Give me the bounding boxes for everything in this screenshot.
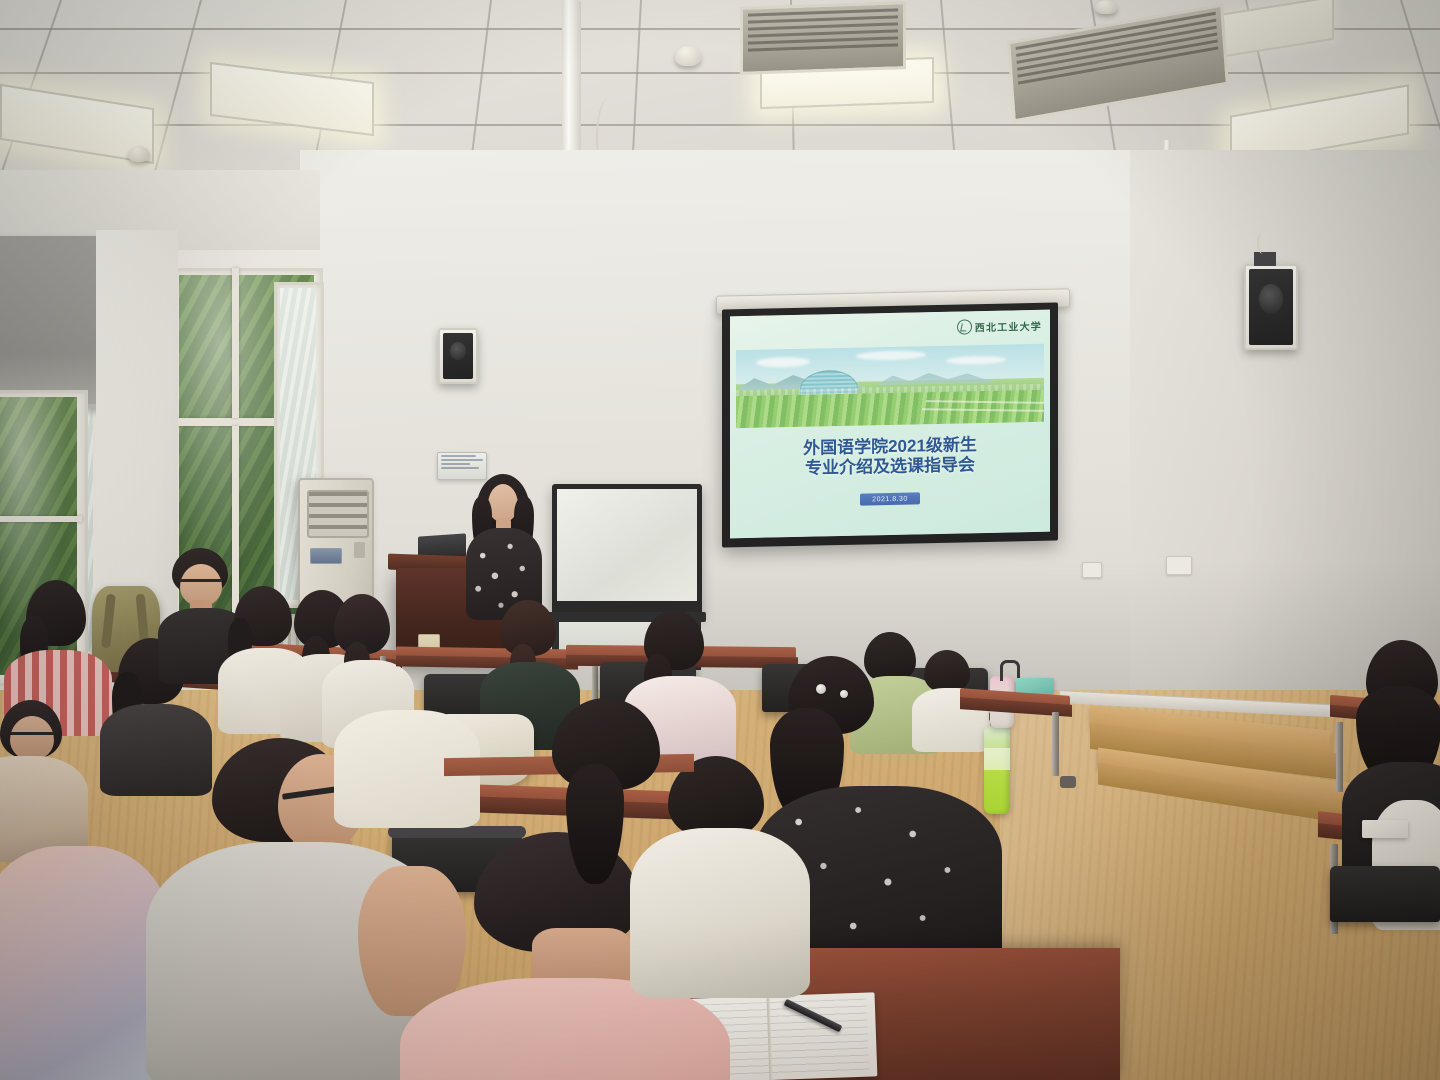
desk-leg xyxy=(1336,722,1343,792)
speaker-face xyxy=(1249,269,1293,345)
air-conditioner-grille xyxy=(307,490,369,538)
university-logo-text: 西北工业大学 xyxy=(975,318,1042,334)
speaker-bracket xyxy=(1254,252,1276,266)
air-conditioner-sensor xyxy=(354,542,365,558)
hair xyxy=(924,650,970,692)
speaker-face xyxy=(443,333,473,379)
roller-blind[interactable] xyxy=(0,236,104,408)
desk-leg xyxy=(1060,776,1076,788)
wall-outlet[interactable] xyxy=(1082,562,1102,578)
green-drink-bottle xyxy=(984,726,1010,814)
speaker-cable xyxy=(1257,232,1269,254)
smoke-detector xyxy=(675,46,701,66)
torso xyxy=(630,828,810,998)
bottle-label xyxy=(984,748,1010,770)
projector-pole xyxy=(562,0,581,160)
campus-photo xyxy=(736,344,1044,428)
smoke-detector xyxy=(128,146,150,162)
chair[interactable] xyxy=(1330,866,1440,922)
window-mullion xyxy=(232,268,239,418)
glasses-icon xyxy=(180,579,222,582)
head xyxy=(10,716,54,760)
slide: 西北工业大学 外国语学院2 xyxy=(730,310,1050,539)
window-mullion xyxy=(232,426,239,624)
classroom-scene: 西北工业大学 外国语学院2 xyxy=(0,0,1440,1080)
wall-outlet[interactable] xyxy=(1166,556,1192,575)
wall-speaker xyxy=(1244,264,1298,350)
wall-speaker xyxy=(438,328,478,384)
hair-clip xyxy=(840,690,848,698)
window-mullion xyxy=(0,516,82,522)
torso xyxy=(0,846,170,1080)
slide-date-badge: 2021.8.30 xyxy=(860,492,920,505)
slide-date-text: 2021.8.30 xyxy=(872,495,908,503)
paper-on-desk xyxy=(1362,820,1408,838)
torso xyxy=(100,704,212,796)
projection-screen-surface: 西北工业大学 外国语学院2 xyxy=(730,310,1050,539)
university-emblem-icon xyxy=(957,319,972,334)
hair-clip xyxy=(816,684,826,694)
air-conditioner-display[interactable] xyxy=(310,548,342,564)
wall-sign xyxy=(437,452,487,480)
whiteboard[interactable] xyxy=(552,484,702,616)
desk-leg xyxy=(1052,712,1059,776)
glasses-icon xyxy=(8,732,54,735)
projection-screen[interactable]: 西北工业大学 外国语学院2 xyxy=(722,302,1058,547)
hvac-vent xyxy=(740,1,906,75)
slide-title: 外国语学院2021级新生 专业介绍及选课指导会 xyxy=(730,434,1050,481)
whiteboard-surface[interactable] xyxy=(557,489,697,601)
smoke-detector xyxy=(1095,0,1117,14)
university-logo: 西北工业大学 xyxy=(957,318,1042,335)
